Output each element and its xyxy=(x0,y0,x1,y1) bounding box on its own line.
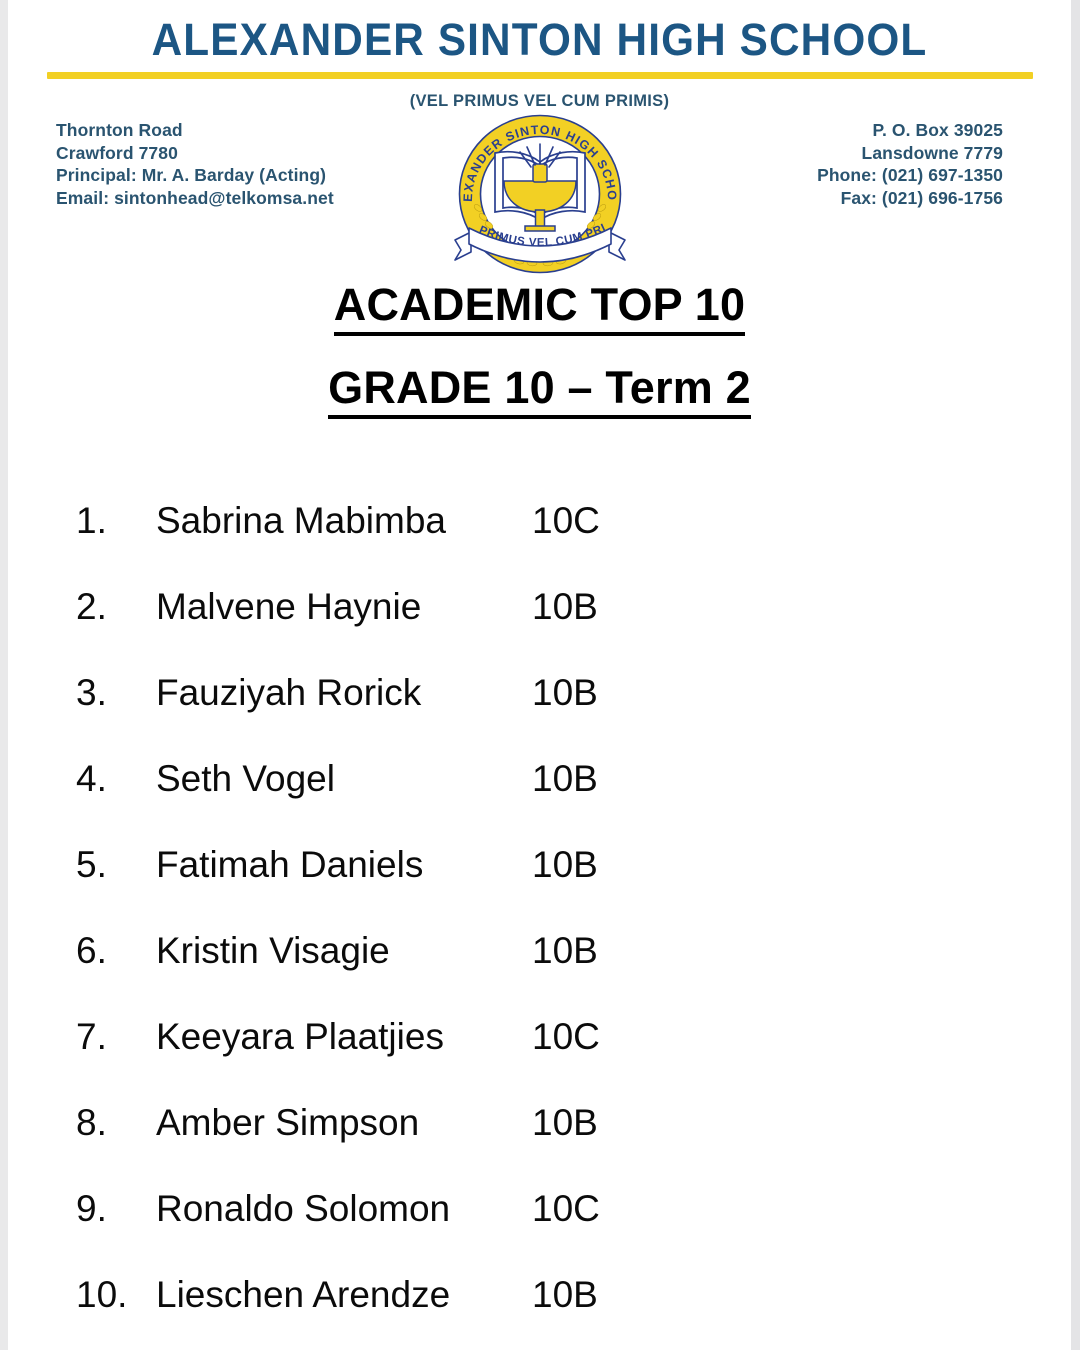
learner-name: Keeyara Plaatjies xyxy=(156,1016,444,1058)
list-item: 7. Keeyara Plaatjies 10C xyxy=(8,1016,1071,1102)
learner-name: Kristin Visagie xyxy=(156,930,390,972)
list-item: 6. Kristin Visagie 10B xyxy=(8,930,1071,1016)
class-code: 10B xyxy=(532,1102,598,1144)
rank-number: 6. xyxy=(76,930,148,972)
postal-suburb: Lansdowne 7779 xyxy=(817,142,1003,165)
learner-name: Amber Simpson xyxy=(156,1102,419,1144)
page-subtitle: GRADE 10 – Term 2 xyxy=(8,362,1071,419)
contact-block-left: Thornton Road Crawford 7780 Principal: M… xyxy=(56,119,334,209)
list-item: 9. Ronaldo Solomon 10C xyxy=(8,1188,1071,1274)
rank-number: 4. xyxy=(76,758,148,800)
class-code: 10B xyxy=(532,930,598,972)
school-crest-logo: ALEXANDER SINTON HIGH SCHOOL xyxy=(447,104,633,276)
learner-name: Lieschen Arendze xyxy=(156,1274,450,1316)
principal-name: Principal: Mr. A. Barday (Acting) xyxy=(56,164,334,187)
rank-number: 7. xyxy=(76,1016,148,1058)
fax-number: Fax: (021) 696-1756 xyxy=(817,187,1003,210)
school-name-heading: ALEXANDER SINTON HIGH SCHOOL xyxy=(40,0,1039,62)
page-title: ACADEMIC TOP 10 xyxy=(8,279,1071,336)
list-item: 5. Fatimah Daniels 10B xyxy=(8,844,1071,930)
class-code: 10B xyxy=(532,758,598,800)
rank-number: 3. xyxy=(76,672,148,714)
list-item: 4. Seth Vogel 10B xyxy=(8,758,1071,844)
rank-number: 2. xyxy=(76,586,148,628)
rank-number: 5. xyxy=(76,844,148,886)
learner-name: Fauziyah Rorick xyxy=(156,672,421,714)
top-ten-list: 1. Sabrina Mabimba 10C 2. Malvene Haynie… xyxy=(8,500,1071,1350)
list-item: 8. Amber Simpson 10B xyxy=(8,1102,1071,1188)
class-code: 10B xyxy=(532,672,598,714)
phone-number: Phone: (021) 697-1350 xyxy=(817,164,1003,187)
learner-name: Fatimah Daniels xyxy=(156,844,423,886)
po-box: P. O. Box 39025 xyxy=(817,119,1003,142)
list-item: 10. Lieschen Arendze 10B xyxy=(8,1274,1071,1350)
learner-name: Malvene Haynie xyxy=(156,586,421,628)
list-item: 3. Fauziyah Rorick 10B xyxy=(8,672,1071,758)
contact-block-right: P. O. Box 39025 Lansdowne 7779 Phone: (0… xyxy=(817,119,1003,209)
rank-number: 8. xyxy=(76,1102,148,1144)
list-item: 1. Sabrina Mabimba 10C xyxy=(8,500,1071,586)
rank-number: 9. xyxy=(76,1188,148,1230)
list-item: 2. Malvene Haynie 10B xyxy=(8,586,1071,672)
page-subtitle-text: GRADE 10 – Term 2 xyxy=(328,362,751,419)
email-address: Email: sintonhead@telkomsa.net xyxy=(56,187,334,210)
yellow-divider-rule xyxy=(47,72,1033,79)
address-suburb: Crawford 7780 xyxy=(56,142,334,165)
document-page: ALEXANDER SINTON HIGH SCHOOL (VEL PRIMUS… xyxy=(0,0,1080,1350)
rank-number: 1. xyxy=(76,500,148,542)
class-code: 10C xyxy=(532,500,600,542)
learner-name: Sabrina Mabimba xyxy=(156,500,446,542)
class-code: 10C xyxy=(532,1188,600,1230)
address-street: Thornton Road xyxy=(56,119,334,142)
page-title-text: ACADEMIC TOP 10 xyxy=(334,279,745,336)
class-code: 10B xyxy=(532,586,598,628)
class-code: 10B xyxy=(532,1274,598,1316)
learner-name: Ronaldo Solomon xyxy=(156,1188,450,1230)
class-code: 10B xyxy=(532,844,598,886)
class-code: 10C xyxy=(532,1016,600,1058)
rank-number: 10. xyxy=(76,1274,148,1316)
learner-name: Seth Vogel xyxy=(156,758,335,800)
